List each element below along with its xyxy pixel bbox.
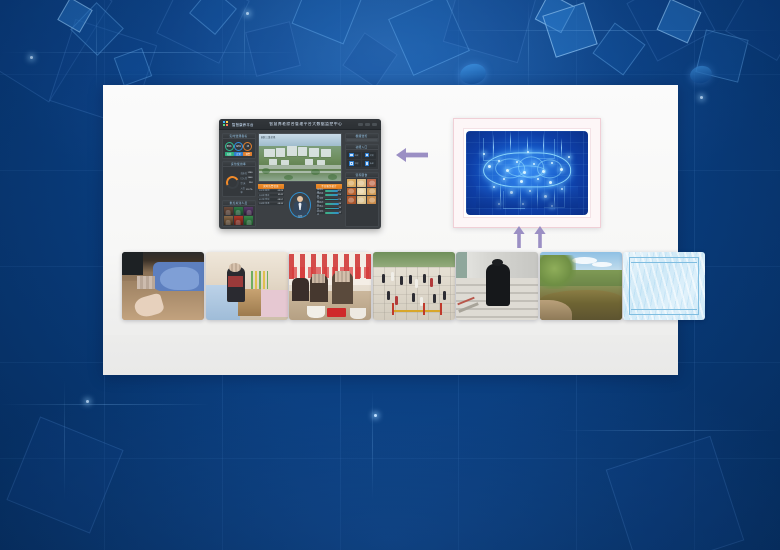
table-row[interactable]: 301房 跌倒09:24 (258, 190, 284, 193)
stat-value: 234 (249, 182, 253, 184)
persons-panel: 重点关注人员 (222, 200, 256, 227)
video-panel: 视频监控 (345, 133, 379, 142)
row-bar (325, 212, 339, 214)
photo3-bowl (307, 306, 325, 318)
attendance-icon (365, 153, 369, 157)
function-icon-button[interactable]: 考勤 (362, 152, 376, 159)
avatar: 张明 (289, 192, 311, 218)
photo3-privacy-blur (335, 271, 350, 282)
dashboard-center-column: 园区三维全景 实时告警信息 301房 跌倒09:24 205房 离床09:11 … (258, 133, 342, 227)
list-item[interactable] (289, 252, 371, 320)
map-label: 园区三维全景 (261, 135, 275, 139)
photo1-dark-area (122, 252, 143, 275)
photo7-frame-line (631, 309, 697, 310)
photo3-red-decor (289, 267, 371, 278)
featured-resident: 张明 (286, 184, 314, 227)
row-value: 326 (338, 190, 341, 192)
photo2-privacy-blur (229, 263, 240, 272)
person-thumbnail[interactable] (224, 216, 233, 224)
stat-label: 空 床 (241, 181, 246, 185)
map-buildings (259, 134, 341, 181)
donut-row: 总床位1280 已入住1046 空 床234 入住率81.7% (225, 169, 253, 194)
photo2-bottles (251, 271, 267, 289)
meal-thumbnail[interactable] (357, 179, 366, 187)
billing-icon (365, 161, 369, 165)
archive-icon (349, 153, 353, 157)
up-arrow-icon (512, 225, 526, 249)
person-thumbnail[interactable] (224, 207, 233, 215)
photo4-post (423, 303, 425, 315)
alerts-table: 实时告警信息 301房 跌倒09:24 205房 离床09:11 412房 呼叫… (258, 184, 284, 227)
photo6-willow (540, 255, 576, 289)
meal-thumbnail[interactable] (367, 179, 376, 187)
dashboard-title: 智慧养老综合管理平台大数据监控中心 (257, 122, 355, 127)
photo4-post (392, 303, 394, 315)
meal-thumbnail[interactable] (347, 188, 356, 196)
up-arrow-icon (533, 225, 547, 249)
photo3-red-box (327, 308, 347, 318)
row-value: 09:24 (278, 190, 283, 192)
donut-chart (224, 174, 240, 190)
row-bar (325, 194, 338, 196)
table-row[interactable]: 108房 体温08:35 (258, 203, 284, 206)
occupancy-stats: 总床位1280 已入住1046 空 床234 入住率81.7% (241, 170, 253, 194)
gauge-value: 15 (246, 145, 249, 148)
function-icon-label: 护理 (355, 162, 359, 165)
person-thumbnail[interactable] (234, 207, 243, 215)
function-icons-panel: 功能入口 档案 考勤 护理 账单 (345, 144, 379, 170)
photo4-post (440, 303, 442, 315)
gauge-button-row: 在线 正常 预警 (225, 152, 253, 156)
function-icon-button[interactable]: 档案 (347, 152, 361, 159)
meal-thumbnail-grid[interactable] (346, 178, 378, 205)
row-label: 205房 离床 (259, 194, 269, 197)
photo4-trees (373, 252, 455, 268)
scene-photo-strip (122, 252, 692, 328)
stat-row: 空 床234 (241, 181, 253, 185)
meal-thumbnail[interactable] (357, 188, 366, 196)
services-table: 今日服务统计 健康监测326 用药提醒214 生活照护178 康复训练96 心理… (316, 184, 342, 227)
dashboard-header: 智慧康养平台 智慧养老综合管理平台大数据监控中心 (219, 119, 381, 130)
card-bottom-band (103, 335, 678, 375)
row-value: 08:35 (278, 203, 283, 205)
stat-value: 81.7% (246, 189, 252, 191)
table-row[interactable]: 紧急响应12 (316, 212, 342, 215)
dashboard-header-controls[interactable] (358, 123, 377, 126)
ai-brain-frame[interactable] (453, 118, 601, 228)
photo6-cloud (592, 262, 612, 267)
dashboard-right-column: 视频监控 功能入口 档案 考勤 (345, 133, 379, 227)
row-bar (325, 208, 339, 210)
brain-outline (483, 152, 571, 187)
meal-thumbnail[interactable] (367, 196, 376, 204)
stat-value: 1046 (248, 177, 253, 179)
gauges-panel: 实时监测指标 86% 92% 15 在线 正常 预警 (222, 133, 256, 159)
row-value: 178 (338, 199, 341, 201)
person-thumbnail[interactable] (234, 216, 243, 224)
photo1-person (160, 267, 199, 290)
table-row[interactable]: 205房 离床09:11 (258, 194, 284, 197)
row-value: 09:11 (278, 194, 283, 196)
photo2-bed-right (260, 290, 288, 317)
person-thumbnail[interactable] (244, 216, 253, 224)
stat-row: 入住率81.7% (241, 186, 253, 194)
list-item[interactable] (623, 252, 705, 320)
monitoring-dashboard[interactable]: 智慧康养平台 智慧养老综合管理平台大数据监控中心 实时监测指标 86% 92% … (219, 119, 381, 229)
list-item[interactable] (122, 252, 204, 320)
gauge-ring: 86% (225, 142, 234, 151)
photo3-privacy-blur (312, 274, 325, 284)
function-icon-button[interactable]: 账单 (362, 160, 376, 167)
function-icon-label: 账单 (370, 162, 374, 165)
stat-value: 1280 (248, 172, 253, 174)
row-label: 108房 体温 (259, 202, 269, 205)
gauge-value: 92% (236, 145, 241, 148)
photo3-person (292, 278, 308, 301)
row-bar (325, 190, 338, 192)
row-bar (325, 203, 339, 205)
map-greenery (328, 174, 337, 180)
dashboard-left-column: 实时监测指标 86% 92% 15 在线 正常 预警 (222, 133, 256, 227)
list-item[interactable] (456, 252, 538, 320)
photo4-barrier (392, 310, 440, 312)
alerts-table-header: 实时告警信息 (258, 184, 284, 189)
row-value: 12 (339, 212, 341, 214)
list-item[interactable] (540, 252, 622, 320)
occupancy-panel-title: 床位使用率 (231, 162, 246, 166)
nursing-icon (349, 161, 353, 165)
brain-image (466, 131, 588, 215)
meals-panel-title: 营养膳食 (356, 173, 368, 177)
person-thumbnail[interactable] (244, 207, 253, 215)
gauge-label-button[interactable]: 预警 (243, 152, 252, 156)
gauge-label-button[interactable]: 正常 (234, 152, 243, 156)
row-label: 紧急响应 (317, 210, 325, 216)
gauge-row: 86% 92% 15 (225, 141, 253, 151)
meal-thumbnail[interactable] (347, 196, 356, 204)
content-card: 智慧康养平台 智慧养老综合管理平台大数据监控中心 实时监测指标 86% 92% … (103, 85, 678, 375)
meal-thumbnail[interactable] (367, 188, 376, 196)
function-icon-grid[interactable]: 档案 考勤 护理 账单 (346, 150, 378, 169)
persons-panel-title: 重点关注人员 (230, 201, 248, 205)
logo-icon (223, 121, 229, 127)
dashboard-logo-text: 智慧康养平台 (232, 122, 254, 127)
table-row[interactable]: 412房 呼叫08:57 (258, 198, 284, 201)
row-value: 96 (339, 203, 341, 205)
brain-base-glow (476, 186, 579, 208)
row-value: 08:57 (278, 199, 283, 201)
stat-label: 已入住 (241, 176, 248, 180)
photo7-inner-frame (629, 257, 700, 314)
meal-thumbnail[interactable] (347, 179, 356, 187)
stat-label: 总床位 (241, 171, 248, 175)
map-road (259, 171, 341, 173)
dashboard-body: 实时监测指标 86% 92% 15 在线 正常 预警 (219, 130, 381, 229)
row-value: 54 (339, 207, 341, 209)
function-icon-label: 考勤 (370, 154, 374, 157)
avatar-caption: 张明 (298, 214, 302, 218)
occupancy-panel: 床位使用率 总床位1280 已入住1046 空 床234 入住率81.7% (222, 161, 256, 197)
gauge-ring: 92% (234, 142, 243, 151)
function-icon-button[interactable]: 护理 (347, 160, 361, 167)
left-arrow-icon (395, 145, 429, 165)
row-value: 214 (338, 194, 341, 196)
video-panel-title: 视频监控 (356, 134, 368, 138)
brain-frame-mat (463, 128, 591, 218)
dashboard-tables-row: 实时告警信息 301房 跌倒09:24 205房 离床09:11 412房 呼叫… (258, 184, 342, 227)
meal-thumbnail[interactable] (357, 196, 366, 204)
row-label: 301房 跌倒 (259, 189, 269, 192)
alerts-table-title: 实时告警信息 (263, 184, 279, 188)
campus-3d-map[interactable]: 园区三维全景 (258, 133, 342, 182)
stat-row: 总床位1280 (241, 171, 253, 175)
photo1-privacy-blur (137, 276, 155, 288)
person-thumbnail-grid[interactable] (223, 206, 255, 226)
photo5-person (486, 264, 511, 306)
gauge-value: 86% (227, 145, 232, 148)
gauges-panel-body: 86% 92% 15 在线 正常 预警 (223, 139, 255, 158)
list-item[interactable] (373, 252, 455, 320)
row-label: 412房 呼叫 (259, 198, 269, 201)
gauge-ring: 15 (243, 142, 252, 151)
map-road (259, 165, 341, 168)
row-bar (325, 199, 338, 201)
function-icons-title: 功能入口 (356, 145, 368, 149)
video-panel-header: 视频监控 (346, 134, 378, 139)
list-item[interactable] (206, 252, 288, 320)
gauge-label-button[interactable]: 在线 (225, 152, 234, 156)
video-feed[interactable] (346, 139, 378, 141)
photo7-frame-line (631, 262, 697, 263)
photo3-bowl (350, 308, 366, 319)
occupancy-panel-body: 总床位1280 已入住1046 空 床234 入住率81.7% (223, 167, 255, 196)
function-icon-label: 档案 (355, 154, 359, 157)
photo2-person (227, 267, 245, 302)
stat-row: 已入住1046 (241, 176, 253, 180)
gauges-panel-title: 实时监测指标 (230, 134, 248, 138)
meals-panel: 营养膳食 (345, 172, 379, 227)
